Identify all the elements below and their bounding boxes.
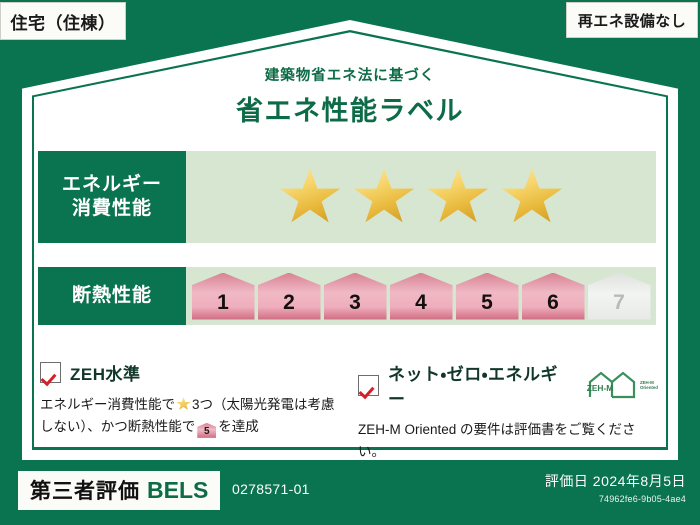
zeh-title: ZEH水準 — [70, 360, 141, 385]
grade-house-2: 2 — [258, 273, 321, 320]
grade-house-7: 7 — [588, 273, 651, 320]
zeh-m-house-icon: ZEH-M — [586, 370, 638, 400]
insulation-performance-value: 1234567 — [186, 267, 656, 325]
bels-certificate-number: 0278571-01 — [232, 481, 310, 497]
zeh-m-logo: ZEH-M ZEH-M Oriented — [586, 370, 658, 400]
grade-house-1: 1 — [192, 273, 255, 320]
bels-label-jp: 第三者評価 — [30, 475, 140, 505]
grade-house-3: 3 — [324, 273, 387, 320]
checkbox-checked-icon — [40, 362, 61, 383]
net-zero-title: ネット・ゼロ・エネルギー — [388, 360, 571, 410]
row-insulation-performance: 断熱性能 1234567 — [38, 267, 656, 325]
energy-label-line2: 消費性能 — [72, 197, 152, 221]
energy-label-root: 住宅（住棟） 再エネ設備なし 建築物省エネ法に基づく 省エネ性能ラベル エネルギ… — [0, 0, 700, 525]
evaluation-info: 評価日 2024年8月5日 74962fe6-9b05-4ae4 — [545, 471, 686, 504]
zeh-m-sub-line2: Oriented — [640, 385, 658, 390]
zeh-check-head: ZEH水準 — [40, 360, 340, 385]
inline-grade-house-icon: 5 — [197, 423, 216, 438]
page-subtitle: 建築物省エネ法に基づく — [0, 64, 700, 85]
energy-performance-value — [186, 151, 656, 243]
energy-label-line1: エネルギー — [62, 173, 162, 197]
grade-house-4: 4 — [390, 273, 453, 320]
title-block: 建築物省エネ法に基づく 省エネ性能ラベル — [0, 64, 700, 128]
star-rating — [279, 167, 564, 227]
badge-renewable-equipment: 再エネ設備なし — [566, 2, 698, 38]
net-zero-description: ZEH-M Oriented の要件は評価書をご覧ください。 — [358, 419, 658, 463]
badge-building-type: 住宅（住棟） — [0, 2, 126, 40]
inline-star-icon — [176, 397, 191, 411]
checkbox-checked-icon — [358, 375, 379, 396]
zeh-desc-part1: エネルギー消費性能で — [40, 397, 175, 412]
zeh-m-sub-line1: ZEH-M — [640, 380, 654, 385]
zeh-description: エネルギー消費性能で3つ（太陽光発電は考慮しない）、かつ断熱性能で5を達成 — [40, 394, 340, 438]
svg-text:ZEH-M: ZEH-M — [587, 383, 614, 393]
net-zero-check-head: ネット・ゼロ・エネルギー ZEH-M ZEH-M Oriented — [358, 360, 658, 410]
footer-bar: 第三者評価 BELS 0278571-01 評価日 2024年8月5日 7496… — [0, 463, 700, 525]
energy-performance-label: エネルギー 消費性能 — [38, 151, 186, 243]
insulation-performance-label: 断熱性能 — [38, 267, 186, 325]
check-section-zeh: ZEH水準 エネルギー消費性能で3つ（太陽光発電は考慮しない）、かつ断熱性能で5… — [40, 360, 340, 438]
row-energy-performance: エネルギー 消費性能 — [38, 151, 656, 243]
star-icon — [427, 167, 490, 227]
bels-badge: 第三者評価 BELS — [18, 471, 220, 510]
grade-house-5: 5 — [456, 273, 519, 320]
star-icon — [353, 167, 416, 227]
check-section-net-zero: ネット・ゼロ・エネルギー ZEH-M ZEH-M Oriented ZEH-M … — [358, 360, 658, 463]
bels-label-en: BELS — [147, 477, 208, 504]
insulation-label-line1: 断熱性能 — [72, 284, 152, 308]
grade-house-6: 6 — [522, 273, 585, 320]
insulation-grade-scale: 1234567 — [192, 273, 651, 320]
evaluation-id: 74962fe6-9b05-4ae4 — [545, 494, 686, 504]
zeh-m-logo-subtext: ZEH-M Oriented — [640, 380, 658, 391]
zeh-desc-part3: を達成 — [218, 419, 259, 434]
evaluation-date: 評価日 2024年8月5日 — [545, 471, 686, 491]
star-icon — [279, 167, 342, 227]
star-icon — [501, 167, 564, 227]
page-title: 省エネ性能ラベル — [0, 89, 700, 128]
